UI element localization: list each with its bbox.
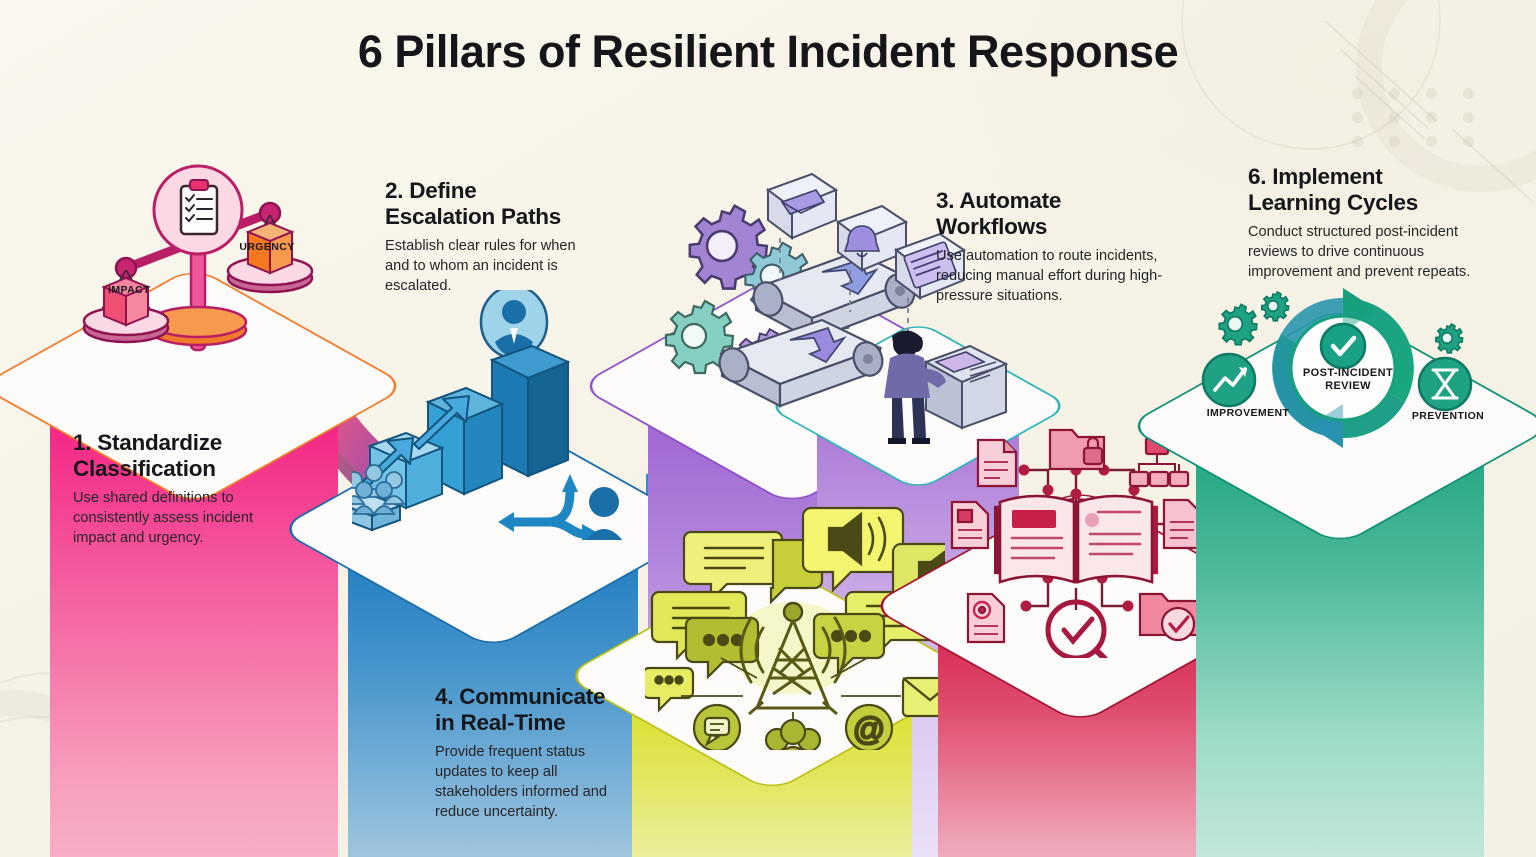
pillar-2-heading-line2: Escalation Paths (385, 204, 561, 229)
cycle-label-prevention: PREVENTION (1404, 408, 1492, 424)
cycle-label-improvement: IMPROVEMENT (1200, 405, 1296, 421)
pillar-3-heading-line2: Workflows (936, 214, 1047, 239)
pillar-4-heading-line2: in Real-Time (435, 710, 565, 735)
pillar-1-text: 1. Standardize Classification Use shared… (73, 430, 288, 549)
cycle-label-post-incident-review: POST-INCIDENT REVIEW (1283, 364, 1413, 396)
scale-label-impact: IMPACT (94, 283, 164, 297)
pillar-2-text: 2. Define Escalation Paths Establish cle… (385, 178, 595, 297)
watermark-line-c (1355, 76, 1425, 139)
pillar-1-heading-line1: 1. Standardize (73, 430, 222, 455)
pillar-3-heading-line1: 3. Automate (936, 188, 1061, 213)
platform-pillar-5 (932, 458, 1228, 754)
scale-label-urgency: URGENCY (232, 240, 302, 254)
infographic-canvas: 6 Pillars of Resilient Incident Response (0, 0, 1536, 857)
pillar-3-body: Use automation to route incidents, reduc… (936, 247, 1170, 307)
pillar-4-heading-line1: 4. Communicate (435, 684, 605, 709)
watermark-dot-grid (1352, 88, 1487, 147)
pillar-4-body: Provide frequent status updates to keep … (435, 743, 625, 822)
platform-pillar-2 (342, 378, 644, 680)
pillar-2-body: Establish clear rules for when and to wh… (385, 237, 595, 297)
pillar-6-heading-line1: 6. Implement (1248, 164, 1383, 189)
pillar-4-text: 4. Communicate in Real-Time Provide freq… (435, 684, 625, 823)
pillar-3-text: 3. Automate Workflows Use automation to … (936, 188, 1170, 307)
page-title: 6 Pillars of Resilient Incident Response (0, 26, 1536, 78)
pillar-1-body: Use shared definitions to consistently a… (73, 489, 288, 549)
platform-pillar-4 (626, 530, 918, 822)
pillar-6-heading-line2: Learning Cycles (1248, 190, 1418, 215)
pillar-2-heading-line1: 2. Define (385, 178, 477, 203)
pillar-1-heading-line2: Classification (73, 456, 216, 481)
platform-pillar-6 (1190, 276, 1490, 576)
cycle-label-post-incident-review-text: POST-INCIDENT REVIEW (1283, 367, 1413, 393)
pillar-6-text: 6. Implement Learning Cycles Conduct str… (1248, 164, 1478, 283)
pillar-6-body: Conduct structured post-incident reviews… (1248, 223, 1478, 283)
